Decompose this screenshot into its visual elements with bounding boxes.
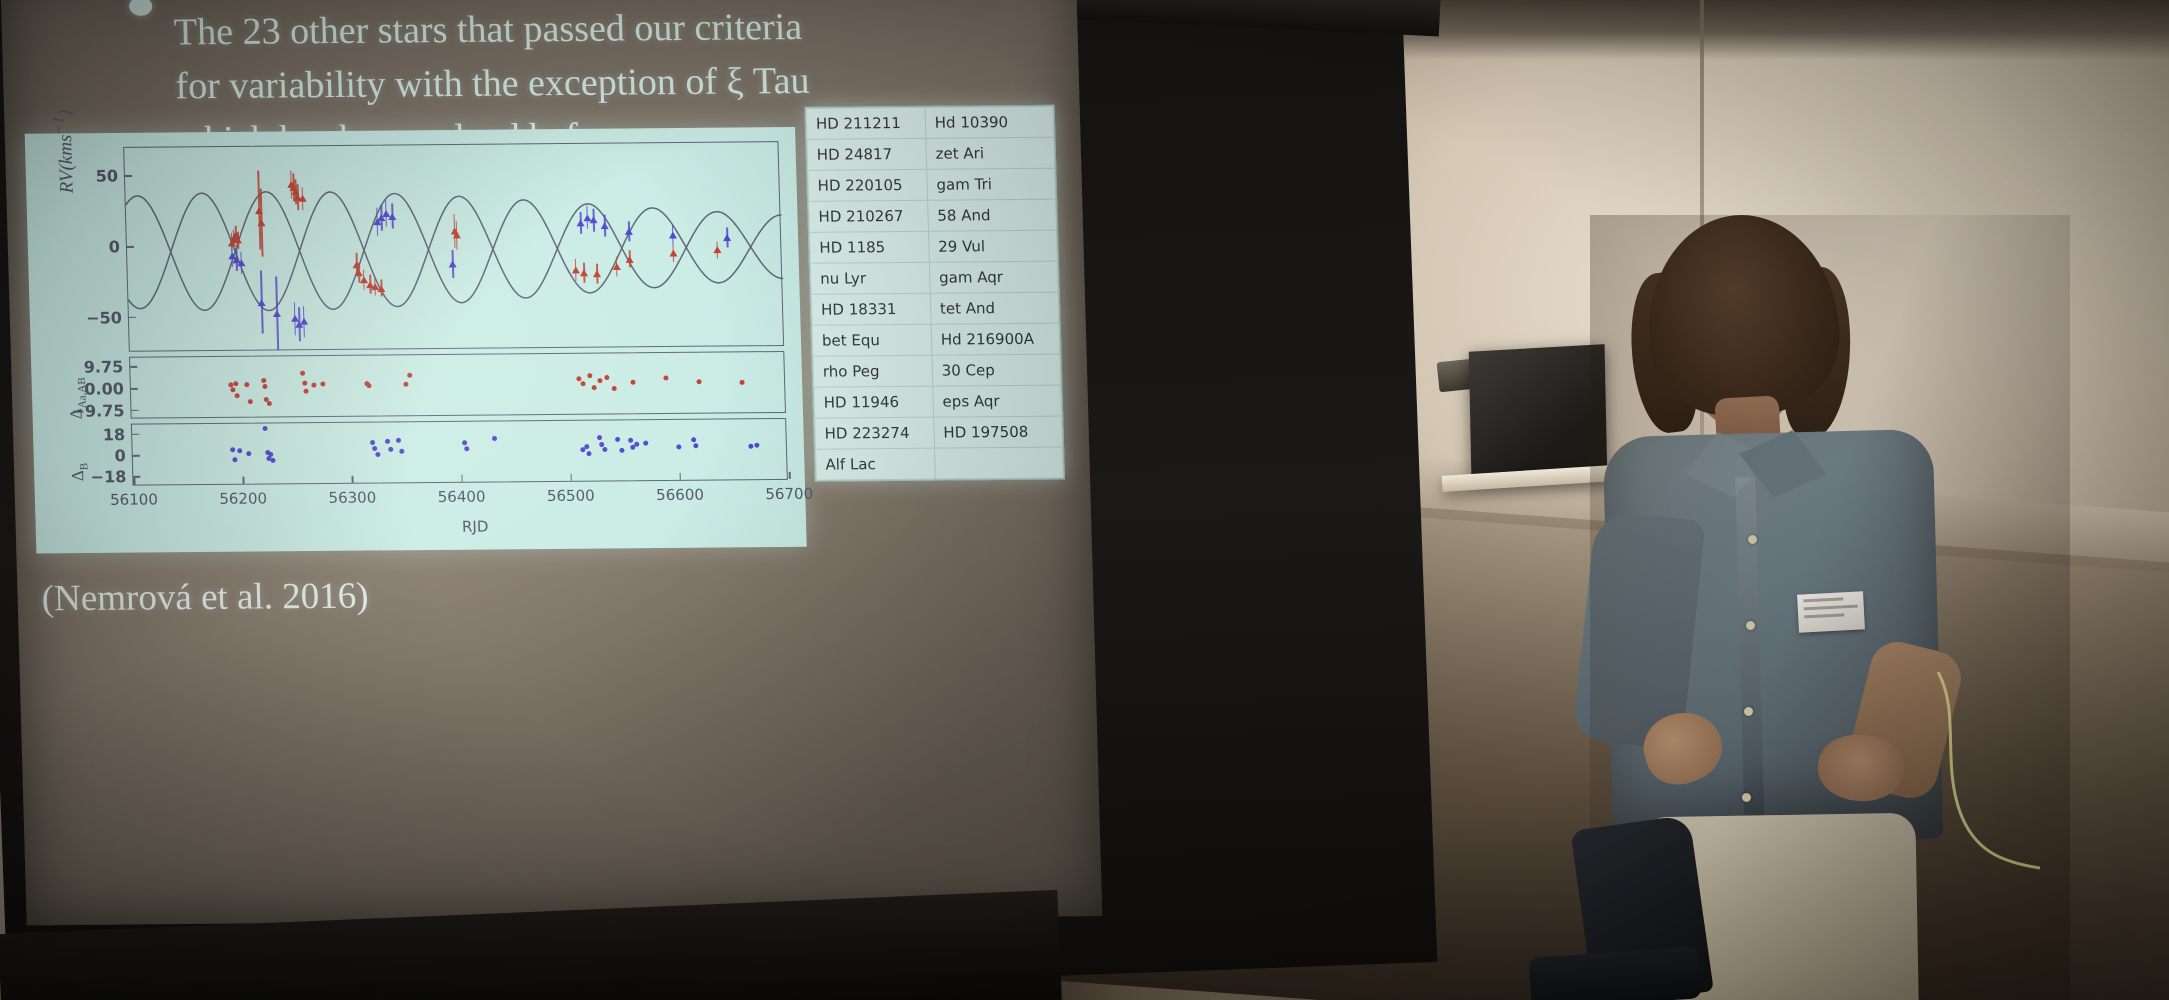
- data-point-marker: [388, 447, 393, 452]
- table-row: HD 118529 Vul: [809, 230, 1057, 263]
- badge-line: [1803, 597, 1843, 602]
- data-point: [696, 379, 701, 384]
- data-point-marker: [230, 387, 235, 392]
- data-point-marker: [258, 219, 266, 226]
- data-point-marker: [625, 228, 633, 235]
- data-point: [263, 426, 268, 431]
- data-point: [366, 383, 371, 388]
- star-name-col1: rho Peg: [813, 355, 933, 387]
- data-point: [403, 382, 408, 387]
- data-point: [587, 373, 592, 378]
- data-point: [492, 436, 497, 441]
- data-point: [676, 445, 681, 450]
- star-name-col1: HD 211211: [806, 107, 926, 139]
- data-point-marker: [580, 269, 588, 276]
- data-point-marker: [300, 370, 305, 375]
- data-point-marker: [604, 375, 609, 380]
- star-name-col2: zet Ari: [926, 137, 1055, 169]
- x-tick-label: 56400: [437, 488, 485, 506]
- data-point: [597, 435, 602, 440]
- data-point-marker: [615, 437, 620, 442]
- data-point: [613, 263, 621, 270]
- star-name-col1: HD 220105: [808, 169, 928, 201]
- data-point-marker: [270, 458, 275, 463]
- residual2-data-points: [132, 419, 785, 425]
- data-point: [669, 250, 677, 257]
- data-point: [626, 256, 634, 263]
- data-point: [372, 446, 377, 451]
- data-point-marker: [273, 310, 281, 317]
- data-point: [635, 442, 640, 447]
- y-tick-label: 0: [109, 237, 128, 256]
- data-point-marker: [611, 386, 616, 391]
- table-row: HD 220105gam Tri: [808, 168, 1056, 201]
- projected-slide: Stars for Further Observation HD 197508 …: [0, 0, 1102, 925]
- data-point-marker: [584, 444, 589, 449]
- y-tick-mark: [125, 175, 132, 177]
- data-point-marker: [258, 299, 266, 306]
- data-point: [598, 378, 603, 383]
- star-name-col1: HD 18331: [811, 293, 931, 325]
- star-name-col2: 58 And: [927, 199, 1056, 231]
- table-row: HD 11946eps Aqr: [814, 385, 1062, 418]
- data-point-marker: [571, 266, 579, 273]
- y-tick-mark: [133, 455, 140, 457]
- badge-line: [1804, 605, 1858, 611]
- data-point-marker: [587, 373, 592, 378]
- y-tick-mark: [130, 366, 137, 368]
- data-point-marker: [590, 217, 598, 224]
- data-point-marker: [643, 440, 648, 445]
- table-row: nu Lyrgam Aqr: [810, 261, 1058, 294]
- x-axis-label: RJD: [462, 518, 489, 536]
- data-point: [663, 376, 668, 381]
- y-tick-label: −50: [86, 308, 129, 327]
- x-tick-mark: [243, 477, 245, 484]
- rv-axis-label: RV(kms−1): [50, 110, 79, 194]
- data-point: [631, 380, 636, 385]
- data-point-marker: [691, 437, 696, 442]
- residual2-axis-label: ΔB: [68, 463, 91, 481]
- data-point-marker: [399, 448, 404, 453]
- data-point: [590, 217, 598, 224]
- x-tick-label: 56100: [110, 490, 158, 508]
- data-point: [300, 370, 305, 375]
- data-point: [266, 400, 271, 405]
- star-name-col2: Hd 10390: [925, 106, 1054, 138]
- presenter-name-badge: [1797, 591, 1865, 632]
- data-point-marker: [261, 378, 266, 383]
- data-point-marker: [631, 380, 636, 385]
- data-point: [234, 237, 242, 244]
- data-point: [273, 310, 281, 317]
- data-point: [248, 400, 253, 405]
- star-name-col2: HD 197508: [933, 416, 1062, 448]
- y-tick-label: 50: [95, 167, 125, 186]
- presenter-hair: [1641, 209, 1844, 422]
- data-point: [748, 444, 753, 449]
- shirt-button: [1744, 707, 1753, 716]
- data-point-marker: [370, 440, 375, 445]
- star-name-col1: Alf Lac: [816, 448, 936, 480]
- data-point-marker: [303, 389, 308, 394]
- data-point: [385, 439, 390, 444]
- data-point-marker: [492, 436, 497, 441]
- data-point-marker: [388, 213, 396, 220]
- y-tick-mark: [131, 388, 138, 390]
- table-row: bet EquHd 216900A: [812, 323, 1060, 356]
- data-point: [396, 438, 401, 443]
- data-point-marker: [694, 443, 699, 448]
- data-point-marker: [377, 285, 385, 292]
- data-point: [232, 457, 237, 462]
- data-point-marker: [233, 381, 238, 386]
- data-point: [244, 382, 249, 387]
- data-point-marker: [244, 382, 249, 387]
- data-point: [320, 381, 325, 386]
- star-name-col1: HD 210267: [809, 200, 929, 232]
- data-point: [377, 285, 385, 292]
- data-point: [628, 438, 633, 443]
- table-row: HD 223274HD 197508: [815, 416, 1063, 449]
- data-point-marker: [669, 231, 677, 238]
- data-point-marker: [663, 376, 668, 381]
- data-point: [580, 269, 588, 276]
- data-point: [694, 443, 699, 448]
- data-point-marker: [755, 443, 760, 448]
- x-tick-mark: [133, 478, 135, 485]
- data-point: [399, 448, 404, 453]
- star-name-col1: nu Lyr: [810, 262, 930, 294]
- data-point-marker: [366, 383, 371, 388]
- data-point-marker: [302, 380, 307, 385]
- x-axis-ticks: 56100562005630056400565005660056700: [132, 419, 785, 425]
- data-point-marker: [628, 438, 633, 443]
- screenshot-root: Stars for Further Observation HD 197508 …: [0, 0, 2169, 1000]
- data-point: [449, 260, 457, 267]
- data-point-marker: [602, 447, 607, 452]
- data-point-marker: [266, 400, 271, 405]
- data-point-marker: [591, 385, 596, 390]
- data-point-marker: [408, 373, 413, 378]
- y-tick-label: 0.00: [84, 379, 131, 398]
- data-point-marker: [246, 451, 251, 456]
- star-table-grid: HD 211211Hd 10390HD 24817zet AriHD 22010…: [805, 106, 1064, 481]
- bullet-line-2: for variability with the exception of ξ …: [175, 55, 817, 115]
- star-name-col1: HD 24817: [807, 138, 927, 170]
- data-point: [462, 441, 467, 446]
- table-row: HD 18331tet And: [811, 292, 1059, 325]
- data-point-marker: [676, 445, 681, 450]
- data-point-marker: [464, 447, 469, 452]
- data-point: [604, 375, 609, 380]
- x-tick-label: 56600: [656, 486, 704, 504]
- x-tick-label: 56300: [328, 489, 376, 507]
- star-name-col2: gam Tri: [927, 168, 1056, 200]
- star-name-col2: Hd 216900A: [931, 323, 1060, 355]
- star-name-col1: HD 11946: [814, 386, 934, 418]
- residual2-y-ticks: 180−18: [132, 419, 785, 425]
- y-tick-label: −9.75: [71, 401, 131, 421]
- slide-citation: (Nemrová et al. 2016): [41, 575, 369, 621]
- data-point-marker: [237, 259, 245, 266]
- x-tick-label: 56200: [219, 489, 267, 507]
- data-point-marker: [375, 452, 380, 457]
- data-point-marker: [312, 382, 317, 387]
- data-point: [669, 231, 677, 238]
- data-point-marker: [300, 318, 308, 325]
- x-tick-label: 56700: [765, 485, 813, 503]
- data-point-marker: [723, 234, 731, 241]
- data-point: [270, 458, 275, 463]
- data-point-marker: [231, 447, 236, 452]
- data-point-marker: [372, 446, 377, 451]
- data-point: [263, 384, 268, 389]
- primary-rv-model: [125, 188, 784, 312]
- y-tick-mark: [132, 433, 139, 435]
- data-point-marker: [385, 439, 390, 444]
- star-name-col2: tet And: [930, 292, 1059, 324]
- data-point-marker: [462, 441, 467, 446]
- data-point: [268, 452, 273, 457]
- data-point: [625, 228, 633, 235]
- panel-residual-aa-ab: 9.750.00−9.75: [129, 351, 786, 419]
- data-point: [580, 381, 585, 386]
- data-point-marker: [598, 378, 603, 383]
- data-point: [298, 195, 306, 202]
- data-point: [370, 440, 375, 445]
- data-point-marker: [234, 237, 242, 244]
- x-tick-label: 56500: [547, 487, 595, 505]
- data-point-marker: [268, 452, 273, 457]
- data-point: [237, 259, 245, 266]
- data-point: [237, 449, 242, 454]
- data-point-marker: [669, 250, 677, 257]
- star-list-table: HD 211211Hd 10390HD 24817zet AriHD 22010…: [804, 105, 1065, 482]
- data-point: [234, 393, 239, 398]
- y-tick-label: 9.75: [84, 358, 131, 377]
- data-point-marker: [248, 400, 253, 405]
- data-point: [740, 380, 745, 385]
- x-tick-mark: [570, 474, 572, 481]
- data-point-marker: [320, 381, 325, 386]
- table-row: Alf Lac: [816, 447, 1064, 480]
- data-point: [230, 387, 235, 392]
- y-tick-mark: [127, 246, 134, 248]
- speaker-box: [1469, 344, 1608, 482]
- data-point: [755, 443, 760, 448]
- residual1-y-ticks: 9.750.00−9.75: [130, 352, 783, 358]
- data-point: [300, 318, 308, 325]
- x-tick-mark: [789, 472, 791, 479]
- data-point: [723, 234, 731, 241]
- figure-inner: RV(kms−1) ΔAa,AB ΔB RJD 500−50 9.750.00−…: [25, 127, 807, 553]
- data-point-marker: [597, 435, 602, 440]
- data-point: [584, 444, 589, 449]
- star-name-col2: gam Aqr: [929, 261, 1058, 293]
- star-name-col2: 29 Vul: [928, 230, 1057, 262]
- star-name-col1: bet Equ: [812, 324, 932, 356]
- panel-residual-b: 180−18 561005620056300564005650056600567…: [131, 418, 788, 486]
- data-point-marker: [234, 393, 239, 398]
- table-row: rho Peg30 Cep: [813, 354, 1061, 387]
- shirt-button: [1742, 793, 1751, 802]
- data-point-marker: [237, 449, 242, 454]
- panel-radial-velocity: 500−50: [123, 141, 784, 352]
- shirt-button: [1748, 535, 1757, 544]
- star-name-col1: HD 223274: [815, 417, 935, 449]
- data-point: [303, 389, 308, 394]
- data-point-marker: [449, 260, 457, 267]
- data-point: [258, 219, 266, 226]
- data-point: [587, 452, 592, 457]
- bullet-line-1: The 23 other stars that passed our crite…: [173, 1, 815, 61]
- data-point: [302, 380, 307, 385]
- star-name-col2: [934, 447, 1063, 479]
- bullet-marker-icon: [129, 0, 153, 16]
- data-point: [388, 447, 393, 452]
- y-tick-label: 0: [114, 446, 133, 465]
- data-point: [601, 222, 609, 229]
- data-point-marker: [587, 452, 592, 457]
- data-point: [571, 266, 579, 273]
- data-point: [615, 437, 620, 442]
- y-tick-label: −18: [90, 468, 133, 487]
- data-point: [591, 385, 596, 390]
- data-point: [713, 247, 721, 254]
- badge-line: [1804, 613, 1844, 618]
- data-point: [312, 382, 317, 387]
- y-tick-label: 18: [103, 425, 133, 444]
- data-point: [611, 386, 616, 391]
- data-point-marker: [740, 380, 745, 385]
- x-tick-mark: [352, 476, 354, 483]
- data-point-marker: [232, 457, 237, 462]
- data-point: [619, 448, 624, 453]
- residual1-data-points: [130, 352, 783, 358]
- data-point: [593, 270, 601, 277]
- data-point-marker: [613, 263, 621, 270]
- data-point-marker: [635, 442, 640, 447]
- data-point: [258, 299, 266, 306]
- star-name-col2: eps Aqr: [933, 385, 1062, 417]
- data-point-marker: [626, 256, 634, 263]
- data-point-marker: [601, 222, 609, 229]
- data-point-marker: [696, 379, 701, 384]
- data-point: [231, 447, 236, 452]
- data-point: [452, 232, 460, 239]
- data-point: [388, 213, 396, 220]
- data-point-marker: [263, 426, 268, 431]
- x-tick-mark: [461, 475, 463, 482]
- star-name-col2: 30 Cep: [932, 354, 1061, 386]
- data-point-marker: [593, 270, 601, 277]
- data-point-marker: [452, 232, 460, 239]
- data-point: [464, 447, 469, 452]
- data-point: [246, 451, 251, 456]
- data-point-marker: [748, 444, 753, 449]
- wall-cable: [1930, 672, 2050, 872]
- table-row: HD 21026758 And: [809, 199, 1057, 232]
- star-name-col1: HD 1185: [809, 231, 929, 263]
- data-point-marker: [580, 381, 585, 386]
- data-point: [375, 452, 380, 457]
- data-point: [408, 373, 413, 378]
- x-tick-mark: [679, 473, 681, 480]
- table-row: HD 24817zet Ari: [807, 137, 1055, 170]
- data-point: [602, 447, 607, 452]
- data-point-marker: [403, 382, 408, 387]
- data-point-marker: [713, 247, 721, 254]
- y-tick-mark: [129, 317, 136, 319]
- data-point: [643, 440, 648, 445]
- star-table-body: HD 211211Hd 10390HD 24817zet AriHD 22010…: [806, 106, 1063, 480]
- table-row: HD 211211Hd 10390: [806, 106, 1054, 139]
- data-point-marker: [263, 384, 268, 389]
- data-point-marker: [619, 448, 624, 453]
- data-point-marker: [298, 195, 306, 202]
- shirt-button: [1746, 621, 1755, 630]
- data-point: [691, 437, 696, 442]
- rv-figure: RV(kms−1) ΔAa,AB ΔB RJD 500−50 9.750.00−…: [25, 127, 807, 553]
- y-tick-mark: [131, 409, 138, 411]
- data-point: [261, 378, 266, 383]
- data-point-marker: [396, 438, 401, 443]
- data-point: [233, 381, 238, 386]
